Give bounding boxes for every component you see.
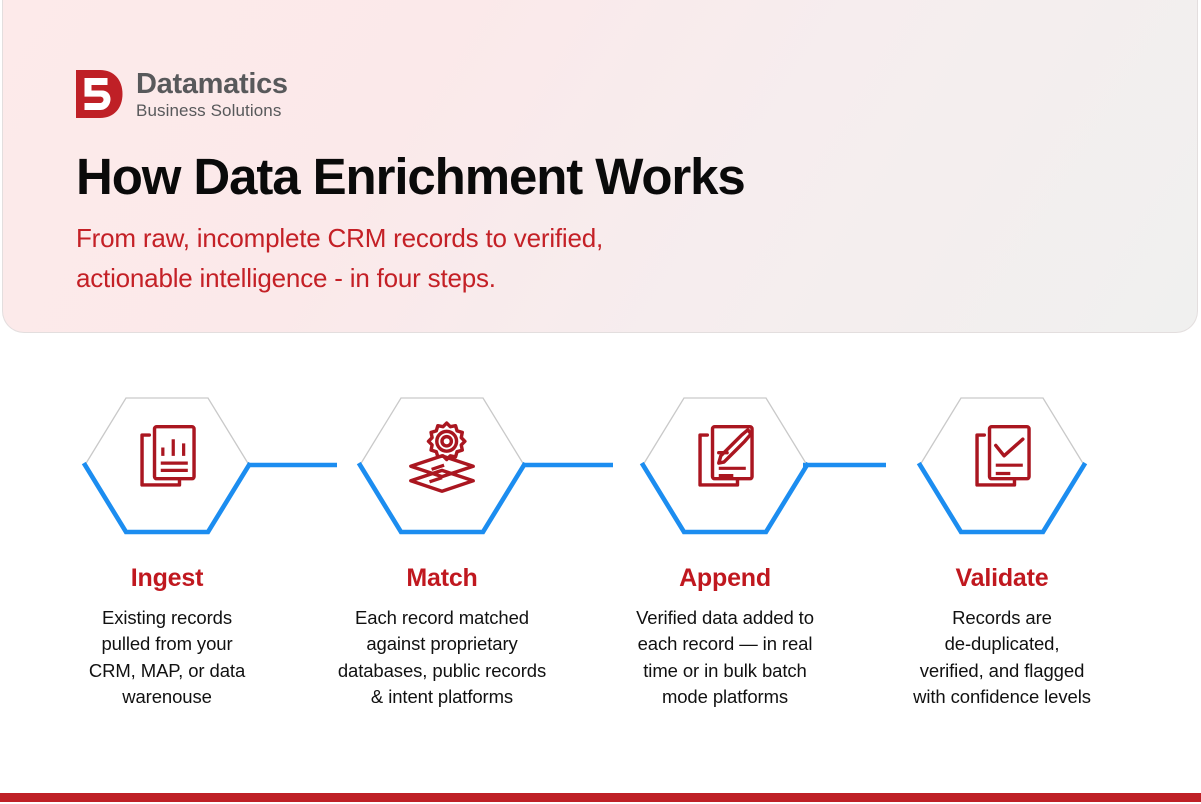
datamatics-d-logo-icon [74, 68, 124, 120]
documents-bar-chart-icon [115, 408, 219, 512]
step-validate-description: Records are de-duplicated, verified, and… [872, 605, 1132, 710]
step-validate[interactable]: Validate Records are de-duplicated, veri… [857, 380, 1147, 710]
document-checkmark-icon [950, 408, 1054, 512]
process-flow: Ingest Existing records pulled from your… [0, 380, 1201, 740]
footer-accent-bar [0, 793, 1201, 802]
step-validate-hexagon [857, 380, 1147, 540]
brand-name: Datamatics [136, 69, 288, 99]
step-ingest[interactable]: Ingest Existing records pulled from your… [22, 380, 312, 710]
step-validate-desc-line-1: Records are [872, 605, 1132, 631]
step-match-desc-line-1: Each record matched [312, 605, 572, 631]
step-match-hexagon [297, 380, 587, 540]
step-append-desc-line-1: Verified data added to [595, 605, 855, 631]
step-append-hexagon [580, 380, 870, 540]
step-match[interactable]: Match Each record matched against propri… [297, 380, 587, 710]
page-subtitle-line-1: From raw, incomplete CRM records to veri… [76, 219, 603, 259]
gear-layers-stack-icon [390, 408, 494, 512]
step-validate-desc-line-3: verified, and flagged [872, 658, 1132, 684]
step-append-description: Verified data added to each record — in … [595, 605, 855, 710]
brand-logo: Datamatics Business Solutions [74, 68, 288, 120]
step-match-title: Match [297, 564, 587, 593]
step-ingest-desc-line-3: CRM, MAP, or data [37, 658, 297, 684]
step-ingest-desc-line-4: warenouse [37, 684, 297, 710]
step-ingest-desc-line-2: pulled from your [37, 631, 297, 657]
step-append-title: Append [580, 564, 870, 593]
step-match-desc-line-4: & intent platforms [312, 684, 572, 710]
step-ingest-desc-line-1: Existing records [37, 605, 297, 631]
step-match-desc-line-3: databases, public records [312, 658, 572, 684]
brand-wordmark: Datamatics Business Solutions [136, 69, 288, 119]
step-append[interactable]: Append Verified data added to each recor… [580, 380, 870, 710]
step-match-desc-line-2: against proprietary [312, 631, 572, 657]
step-append-desc-line-3: time or in bulk batch [595, 658, 855, 684]
step-ingest-description: Existing records pulled from your CRM, M… [37, 605, 297, 710]
step-validate-title: Validate [857, 564, 1147, 593]
step-validate-desc-line-4: with confidence levels [872, 684, 1132, 710]
step-append-desc-line-4: mode platforms [595, 684, 855, 710]
step-match-description: Each record matched against proprietary … [312, 605, 572, 710]
step-append-desc-line-2: each record — in real [595, 631, 855, 657]
document-pencil-edit-icon [673, 408, 777, 512]
page-subtitle-line-2: actionable intelligence - in four steps. [76, 259, 603, 299]
step-ingest-hexagon [22, 380, 312, 540]
page-title: How Data Enrichment Works [76, 147, 745, 206]
step-ingest-title: Ingest [22, 564, 312, 593]
page-subtitle: From raw, incomplete CRM records to veri… [76, 219, 603, 298]
brand-tagline: Business Solutions [136, 102, 288, 119]
step-validate-desc-line-2: de-duplicated, [872, 631, 1132, 657]
